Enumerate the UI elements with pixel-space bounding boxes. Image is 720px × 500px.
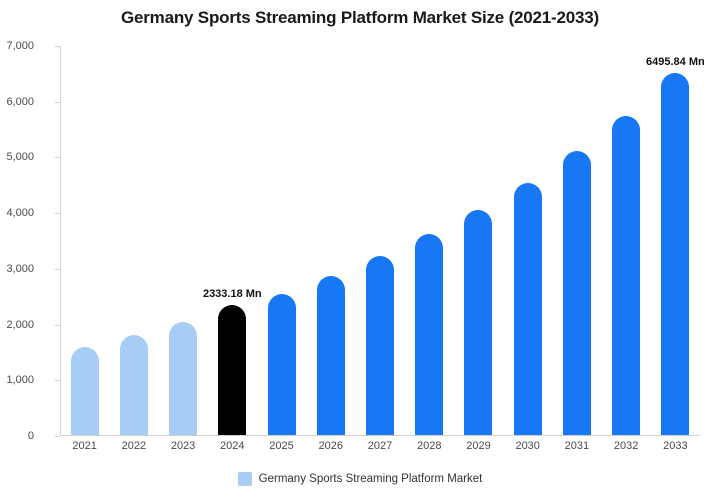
bar[interactable] [415,234,443,435]
y-tick-mark [55,436,60,437]
y-tick-label: 6,000 [0,96,34,108]
bar[interactable] [514,183,542,435]
bar-value-label: 6495.84 Mn [646,56,705,68]
bar[interactable] [71,347,99,435]
bar-value-label: 2333.18 Mn [203,288,262,300]
x-tick-label: 2030 [515,440,539,452]
chart-legend: Germany Sports Streaming Platform Market [0,472,720,486]
y-tick-label: 3,000 [0,263,34,275]
y-tick-label: 7,000 [0,40,34,52]
bar[interactable] [366,256,394,435]
bar[interactable] [661,73,689,435]
bar[interactable] [169,322,197,435]
y-tick-label: 1,000 [0,374,34,386]
bar[interactable] [563,151,591,435]
legend-swatch [238,472,252,486]
y-tick-label: 4,000 [0,207,34,219]
bar-series [60,46,700,436]
x-tick-label: 2027 [368,440,392,452]
x-tick-label: 2031 [565,440,589,452]
x-tick-label: 2021 [72,440,96,452]
x-tick-label: 2029 [466,440,490,452]
bar[interactable] [464,210,492,435]
x-axis-ticks: 2021202220232024202520262027202820292030… [60,440,700,458]
bar[interactable] [612,116,640,435]
y-tick-label: 5,000 [0,151,34,163]
bar[interactable] [268,294,296,436]
x-tick-label: 2023 [171,440,195,452]
x-tick-label: 2028 [417,440,441,452]
bar[interactable] [218,305,246,435]
x-tick-label: 2025 [269,440,293,452]
x-tick-label: 2026 [319,440,343,452]
y-tick-label: 2,000 [0,319,34,331]
x-tick-label: 2024 [220,440,244,452]
x-tick-label: 2032 [614,440,638,452]
legend-label: Germany Sports Streaming Platform Market [259,473,483,485]
x-tick-label: 2033 [663,440,687,452]
y-tick-label: 0 [0,430,34,442]
plot-area: 01,0002,0003,0004,0005,0006,0007,000 233… [60,46,700,436]
bar[interactable] [317,276,345,435]
bar[interactable] [120,335,148,435]
chart-title: Germany Sports Streaming Platform Market… [0,8,720,28]
chart-container: Germany Sports Streaming Platform Market… [0,0,720,500]
x-tick-label: 2022 [122,440,146,452]
